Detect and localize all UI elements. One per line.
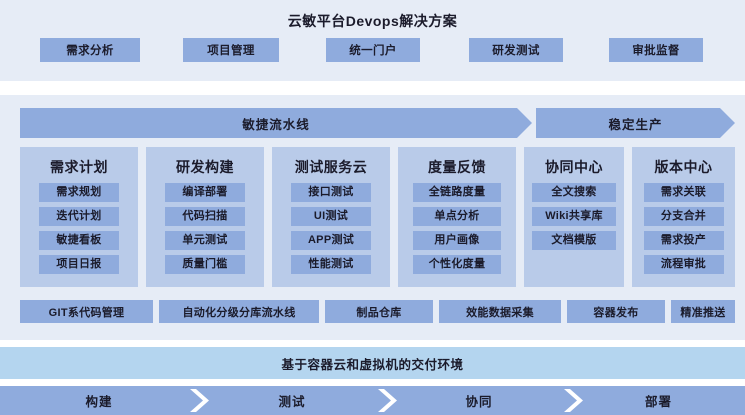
card-item[interactable]: 分支合并 — [644, 207, 724, 226]
header-chip[interactable]: 需求分析 — [40, 38, 140, 62]
card-item[interactable]: 全文搜索 — [532, 183, 616, 202]
foundation-chip[interactable]: 容器发布 — [567, 300, 665, 323]
capability-card: 版本中心需求关联分支合并需求投产流程审批 — [632, 147, 735, 287]
card-item[interactable]: 全链路度量 — [413, 183, 501, 202]
pipeline-arrow-row: 敏捷流水线稳定生产 — [20, 108, 735, 138]
card-item-list: 需求关联分支合并需求投产流程审批 — [632, 183, 735, 274]
card-item[interactable]: 质量门槛 — [165, 255, 245, 274]
pipeline-arrow[interactable]: 稳定生产 — [536, 108, 735, 138]
card-item[interactable]: 单点分析 — [413, 207, 501, 226]
card-title: 研发构建 — [176, 157, 234, 177]
card-item[interactable]: UI测试 — [291, 207, 371, 226]
stage-label[interactable]: 测试 — [198, 386, 386, 415]
card-item[interactable]: 性能测试 — [291, 255, 371, 274]
foundation-chip[interactable]: 自动化分级分库流水线 — [159, 300, 319, 323]
capability-card: 度量反馈全链路度量单点分析用户画像个性化度量 — [398, 147, 516, 287]
chevron-right-icon — [559, 386, 585, 415]
card-item[interactable]: 迭代计划 — [39, 207, 119, 226]
foundation-chip[interactable]: 制品仓库 — [325, 300, 433, 323]
card-item[interactable]: 敏捷看板 — [39, 231, 119, 250]
foundation-chip[interactable]: 效能数据采集 — [439, 300, 561, 323]
pipeline-arrow[interactable]: 敏捷流水线 — [20, 108, 532, 138]
card-item[interactable]: 需求规划 — [39, 183, 119, 202]
header-chip[interactable]: 研发测试 — [469, 38, 563, 62]
card-item-list: 全链路度量单点分析用户画像个性化度量 — [398, 183, 516, 274]
capability-card: 协同中心全文搜索Wiki共享库文档模版 — [524, 147, 624, 287]
foundation-chip-row: GIT系代码管理自动化分级分库流水线制品仓库效能数据采集容器发布精准推送 — [20, 300, 735, 323]
chevron-right-icon — [185, 386, 211, 415]
card-item[interactable]: 接口测试 — [291, 183, 371, 202]
delivery-environment-banner: 基于容器云和虚拟机的交付环境 — [0, 347, 745, 379]
card-item[interactable]: Wiki共享库 — [532, 207, 616, 226]
card-item[interactable]: 需求关联 — [644, 183, 724, 202]
card-item[interactable]: 流程审批 — [644, 255, 724, 274]
capability-card: 研发构建编译部署代码扫描单元测试质量门槛 — [146, 147, 264, 287]
card-item[interactable]: 编译部署 — [165, 183, 245, 202]
card-item-list: 需求规划迭代计划敏捷看板项目日报 — [20, 183, 138, 274]
card-title: 度量反馈 — [428, 157, 486, 177]
card-item[interactable]: APP测试 — [291, 231, 371, 250]
stage-label[interactable]: 构建 — [0, 386, 198, 415]
card-title: 协同中心 — [545, 157, 603, 177]
stage-label[interactable]: 部署 — [572, 386, 745, 415]
card-item-list: 编译部署代码扫描单元测试质量门槛 — [146, 183, 264, 274]
card-title: 需求计划 — [50, 157, 108, 177]
capability-columns-row: 需求计划需求规划迭代计划敏捷看板项目日报研发构建编译部署代码扫描单元测试质量门槛… — [20, 147, 735, 287]
header-chip[interactable]: 项目管理 — [183, 38, 279, 62]
foundation-chip[interactable]: 精准推送 — [671, 300, 735, 323]
card-item[interactable]: 个性化度量 — [413, 255, 501, 274]
card-item[interactable]: 用户画像 — [413, 231, 501, 250]
card-item[interactable]: 文档模版 — [532, 231, 616, 250]
capability-card: 测试服务云接口测试UI测试APP测试性能测试 — [272, 147, 390, 287]
header-panel: 云敏平台Devops解决方案 需求分析项目管理统一门户研发测试审批监督 — [0, 0, 745, 81]
card-item-list: 全文搜索Wiki共享库文档模版 — [524, 183, 624, 250]
card-item[interactable]: 代码扫描 — [165, 207, 245, 226]
card-item[interactable]: 项目日报 — [39, 255, 119, 274]
card-item[interactable]: 单元测试 — [165, 231, 245, 250]
page-title: 云敏平台Devops解决方案 — [0, 0, 745, 31]
card-item[interactable]: 需求投产 — [644, 231, 724, 250]
header-chip[interactable]: 统一门户 — [326, 38, 420, 62]
header-chip-row: 需求分析项目管理统一门户研发测试审批监督 — [0, 38, 745, 62]
card-item-list: 接口测试UI测试APP测试性能测试 — [272, 183, 390, 274]
foundation-chip[interactable]: GIT系代码管理 — [20, 300, 153, 323]
capability-card: 需求计划需求规划迭代计划敏捷看板项目日报 — [20, 147, 138, 287]
main-panel: 敏捷流水线稳定生产 需求计划需求规划迭代计划敏捷看板项目日报研发构建编译部署代码… — [0, 95, 745, 340]
stage-label[interactable]: 协同 — [386, 386, 572, 415]
stage-band: 构建测试协同部署 — [0, 386, 745, 415]
header-chip[interactable]: 审批监督 — [609, 38, 703, 62]
card-title: 版本中心 — [655, 157, 713, 177]
chevron-right-icon — [373, 386, 399, 415]
card-title: 测试服务云 — [295, 157, 368, 177]
